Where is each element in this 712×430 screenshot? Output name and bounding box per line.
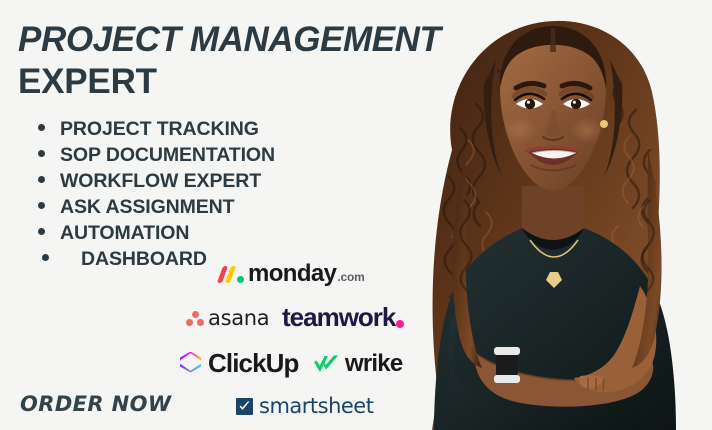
bullet-icon bbox=[38, 150, 45, 157]
logo-clickup-label: ClickUp bbox=[208, 350, 299, 376]
bullet-icon bbox=[38, 228, 45, 235]
logo-asana: asana bbox=[186, 308, 269, 329]
list-item: PROJECT TRACKING bbox=[30, 118, 275, 144]
order-now-cta[interactable]: ORDER NOW bbox=[20, 392, 171, 416]
asana-logo-icon bbox=[186, 311, 204, 327]
logo-teamwork-label: teamwork bbox=[282, 304, 395, 330]
teamwork-logo-icon bbox=[396, 320, 404, 328]
page-title-line2: EXPERT bbox=[18, 64, 498, 100]
monday-logo-icon bbox=[219, 266, 244, 283]
list-item: AUTOMATION bbox=[30, 222, 275, 248]
logo-monday-label: monday bbox=[248, 262, 336, 286]
list-item-label: AUTOMATION bbox=[60, 222, 189, 245]
logo-monday: monday .com bbox=[219, 262, 365, 286]
services-list: PROJECT TRACKING SOP DOCUMENTATION WORKF… bbox=[30, 118, 275, 274]
logo-wrike-label: wrike bbox=[345, 352, 402, 376]
wrike-logo-icon bbox=[313, 354, 341, 374]
list-item-label: PROJECT TRACKING bbox=[60, 118, 259, 141]
bullet-icon bbox=[38, 176, 45, 183]
list-item: WORKFLOW EXPERT bbox=[30, 170, 275, 196]
bullet-icon bbox=[38, 124, 45, 131]
bullet-icon bbox=[38, 202, 45, 209]
logo-smartsheet-label: smartsheet bbox=[259, 396, 373, 417]
logo-smartsheet: smartsheet bbox=[236, 396, 373, 417]
list-item-label: SOP DOCUMENTATION bbox=[60, 144, 275, 167]
smartsheet-logo-icon bbox=[236, 398, 253, 415]
list-item-label: DASHBOARD bbox=[81, 248, 207, 271]
logo-clickup: ClickUp bbox=[178, 350, 299, 376]
clickup-logo-icon bbox=[178, 351, 203, 376]
list-item-label: WORKFLOW EXPERT bbox=[60, 170, 261, 193]
logo-wrike: wrike bbox=[313, 352, 402, 376]
bullet-icon bbox=[42, 254, 49, 261]
logo-asana-label: asana bbox=[208, 308, 269, 329]
list-item: ASK ASSIGNMENT bbox=[30, 196, 275, 222]
logo-teamwork: teamwork bbox=[282, 304, 404, 330]
logo-monday-suffix: .com bbox=[337, 270, 364, 286]
list-item: SOP DOCUMENTATION bbox=[30, 144, 275, 170]
list-item-label: ASK ASSIGNMENT bbox=[60, 196, 234, 219]
page-title-line1: PROJECT MANAGEMENT bbox=[18, 22, 498, 58]
thumbnail-canvas: PROJECT MANAGEMENT EXPERT PROJECT TRACKI… bbox=[0, 0, 712, 430]
page-title: PROJECT MANAGEMENT EXPERT bbox=[18, 22, 498, 99]
